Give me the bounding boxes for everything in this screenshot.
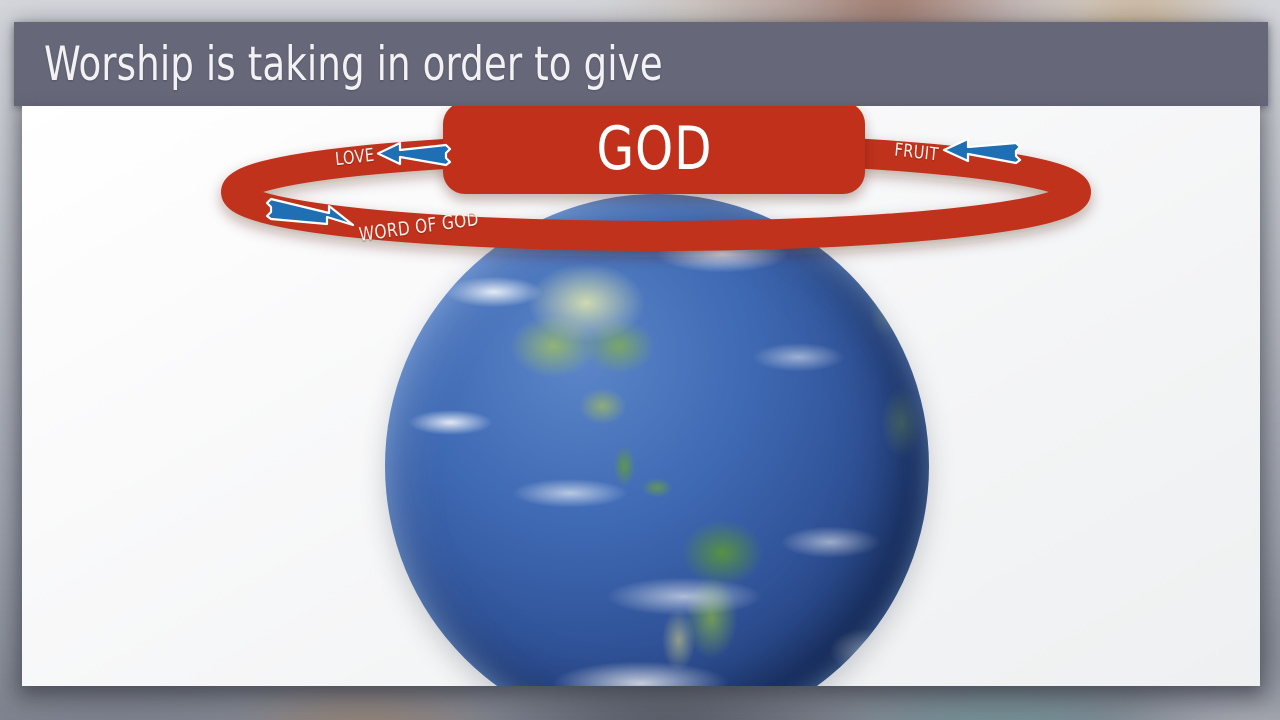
slide-content-area: GOD LOVE FRUIT WORD OF GOD (22, 106, 1260, 686)
arrow-left-icon (374, 139, 452, 169)
god-center-box: GOD (443, 106, 865, 194)
slide-stage: Worship is taking in order to give GOD (0, 0, 1280, 720)
flow-label-fruit: FRUIT (894, 139, 940, 165)
arrow-right-icon (265, 194, 357, 232)
slide-title-bar: Worship is taking in order to give (14, 22, 1268, 106)
flow-label-word-of-god: WORD OF GOD (358, 208, 480, 246)
arrow-left-icon (940, 135, 1022, 167)
globe-atmosphere-glow (385, 194, 929, 686)
earth-globe-image (385, 194, 929, 686)
god-label: GOD (596, 119, 712, 179)
page-title: Worship is taking in order to give (44, 37, 663, 92)
flow-label-love: LOVE (334, 145, 375, 170)
